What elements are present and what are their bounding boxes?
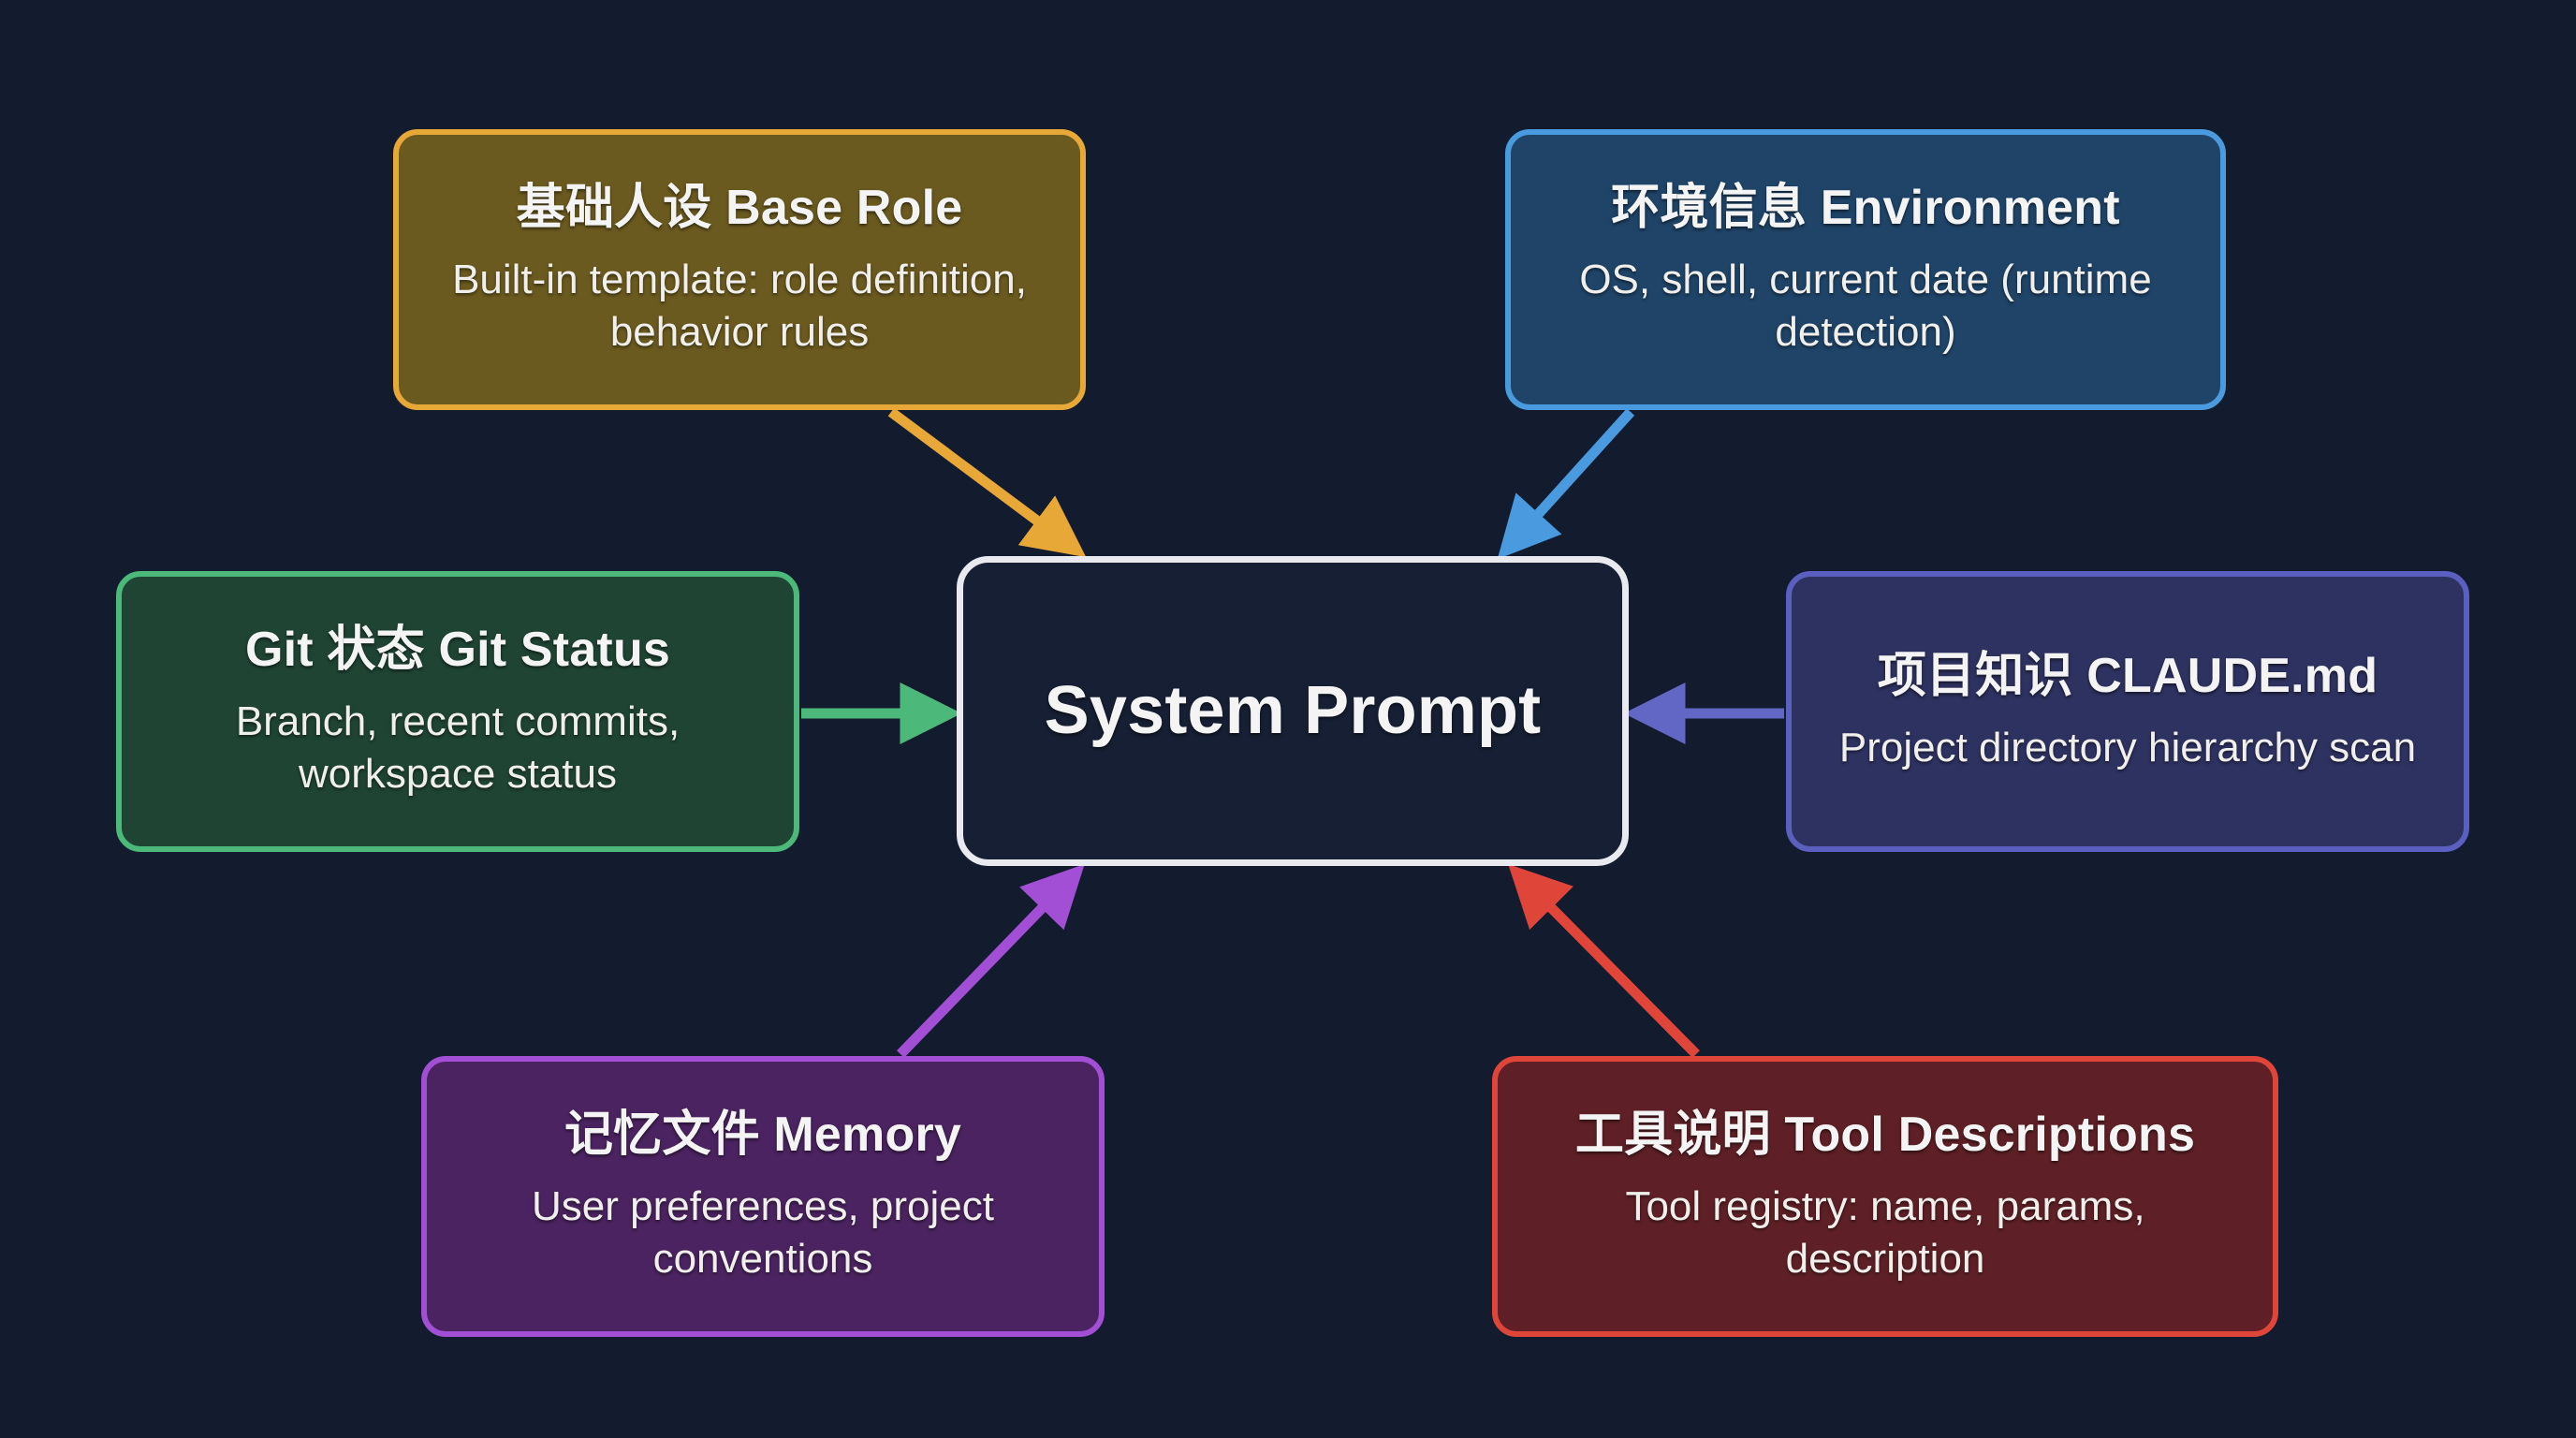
node-system-prompt[interactable]: System Prompt <box>957 556 1629 866</box>
node-git-status-title: Git 状态 Git Status <box>245 623 670 677</box>
node-git-status-desc: Branch, recent commits, workspace status <box>144 696 771 801</box>
node-memory[interactable]: 记忆文件 Memory User preferences, project co… <box>421 1056 1105 1337</box>
node-environment-desc: OS, shell, current date (runtime detecti… <box>1533 254 2198 359</box>
edge-memory <box>900 874 1075 1054</box>
node-claude-md-desc: Project directory hierarchy scan <box>1839 722 2416 774</box>
node-tool-descriptions-desc: Tool registry: name, params, description <box>1520 1181 2250 1286</box>
node-environment-title: 环境信息 Environment <box>1611 181 2119 235</box>
edge-tool-descriptions <box>1518 874 1696 1054</box>
node-tool-descriptions-title: 工具说明 Tool Descriptions <box>1575 1108 2195 1162</box>
node-environment[interactable]: 环境信息 Environment OS, shell, current date… <box>1505 129 2226 410</box>
node-git-status[interactable]: Git 状态 Git Status Branch, recent commits… <box>116 571 799 852</box>
node-base-role-desc: Built-in template: role definition, beha… <box>421 254 1058 359</box>
node-claude-md[interactable]: 项目知识 CLAUDE.md Project directory hierarc… <box>1786 571 2469 852</box>
node-memory-desc: User preferences, project conventions <box>449 1181 1076 1286</box>
node-base-role-title: 基础人设 Base Role <box>517 181 963 235</box>
node-base-role[interactable]: 基础人设 Base Role Built-in template: role d… <box>393 129 1086 410</box>
edge-base-role <box>891 412 1075 549</box>
node-tool-descriptions[interactable]: 工具说明 Tool Descriptions Tool registry: na… <box>1492 1056 2278 1337</box>
diagram-canvas: 基础人设 Base Role Built-in template: role d… <box>0 0 2576 1438</box>
edge-environment <box>1507 412 1631 549</box>
node-memory-title: 记忆文件 Memory <box>564 1108 961 1162</box>
node-claude-md-title: 项目知识 CLAUDE.md <box>1878 649 2378 703</box>
node-system-prompt-title: System Prompt <box>1045 673 1542 749</box>
